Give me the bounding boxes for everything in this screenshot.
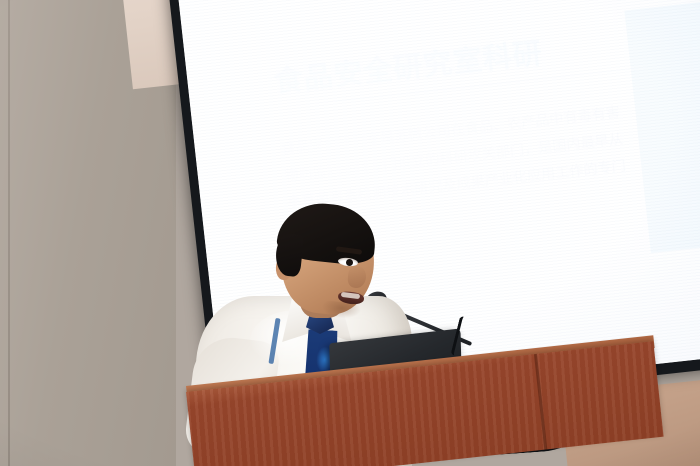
slide-title: 食品安全研究室科研: [272, 30, 545, 101]
wall-seam: [8, 0, 10, 466]
speaker-pupil: [346, 259, 353, 266]
presentation-photo: 食品安全研究室科研 食品安全研究室是苏微公司在食品、农产品中有毒有害 物质监测领…: [0, 0, 700, 466]
